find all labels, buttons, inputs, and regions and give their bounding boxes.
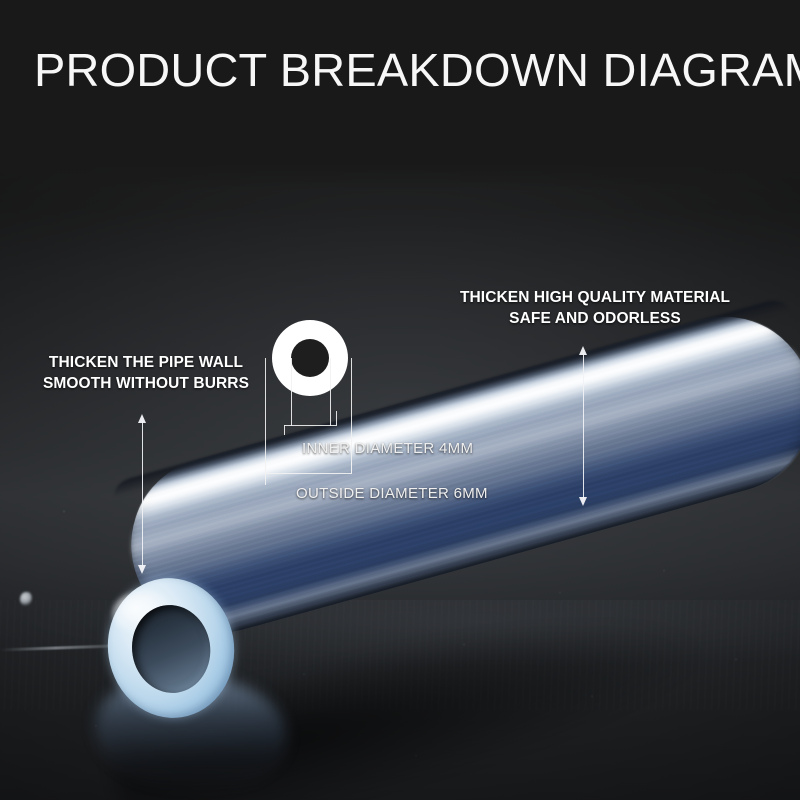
wall-thickness-pointer-arrow xyxy=(138,414,147,574)
outer-dim-tick-right xyxy=(351,462,352,473)
arrow-shaft xyxy=(583,353,584,499)
material-quality-pointer-arrow xyxy=(579,346,588,506)
inner-dim-tick-right xyxy=(336,411,337,425)
page-title: PRODUCT BREAKDOWN DIAGRAM xyxy=(34,44,800,96)
cross-section-ring xyxy=(272,320,348,396)
inner-dim-line-left xyxy=(291,358,292,426)
inner-dim-bar xyxy=(284,425,337,426)
inner-dim-tick-left xyxy=(284,425,285,435)
annotation-pipe-wall: THICKEN THE PIPE WALL SMOOTH WITHOUT BUR… xyxy=(22,352,270,394)
arrow-shaft xyxy=(142,421,143,567)
arrow-head-down-icon xyxy=(579,497,587,506)
inner-dim-line-right xyxy=(330,358,331,426)
cross-section-bore-hole xyxy=(291,339,329,377)
annotation-material-quality-line2: SAFE AND ODORLESS xyxy=(436,308,754,329)
annotation-pipe-wall-line1: THICKEN THE PIPE WALL xyxy=(22,352,270,373)
product-breakdown-diagram: PRODUCT BREAKDOWN DIAGRAM INNER DIAMETER… xyxy=(0,0,800,800)
surface-grain-band xyxy=(0,600,800,710)
inner-diameter-label: INNER DIAMETER 4MM xyxy=(302,440,473,457)
outside-diameter-label: OUTSIDE DIAMETER 6MM xyxy=(296,485,488,502)
outer-dim-tick-left xyxy=(265,473,266,485)
annotation-pipe-wall-line2: SMOOTH WITHOUT BURRS xyxy=(22,373,270,394)
annotation-material-quality: THICKEN HIGH QUALITY MATERIAL SAFE AND O… xyxy=(436,287,754,329)
arrow-head-down-icon xyxy=(138,565,146,574)
outer-dim-bar xyxy=(265,473,352,474)
annotation-material-quality-line1: THICKEN HIGH QUALITY MATERIAL xyxy=(436,287,754,308)
